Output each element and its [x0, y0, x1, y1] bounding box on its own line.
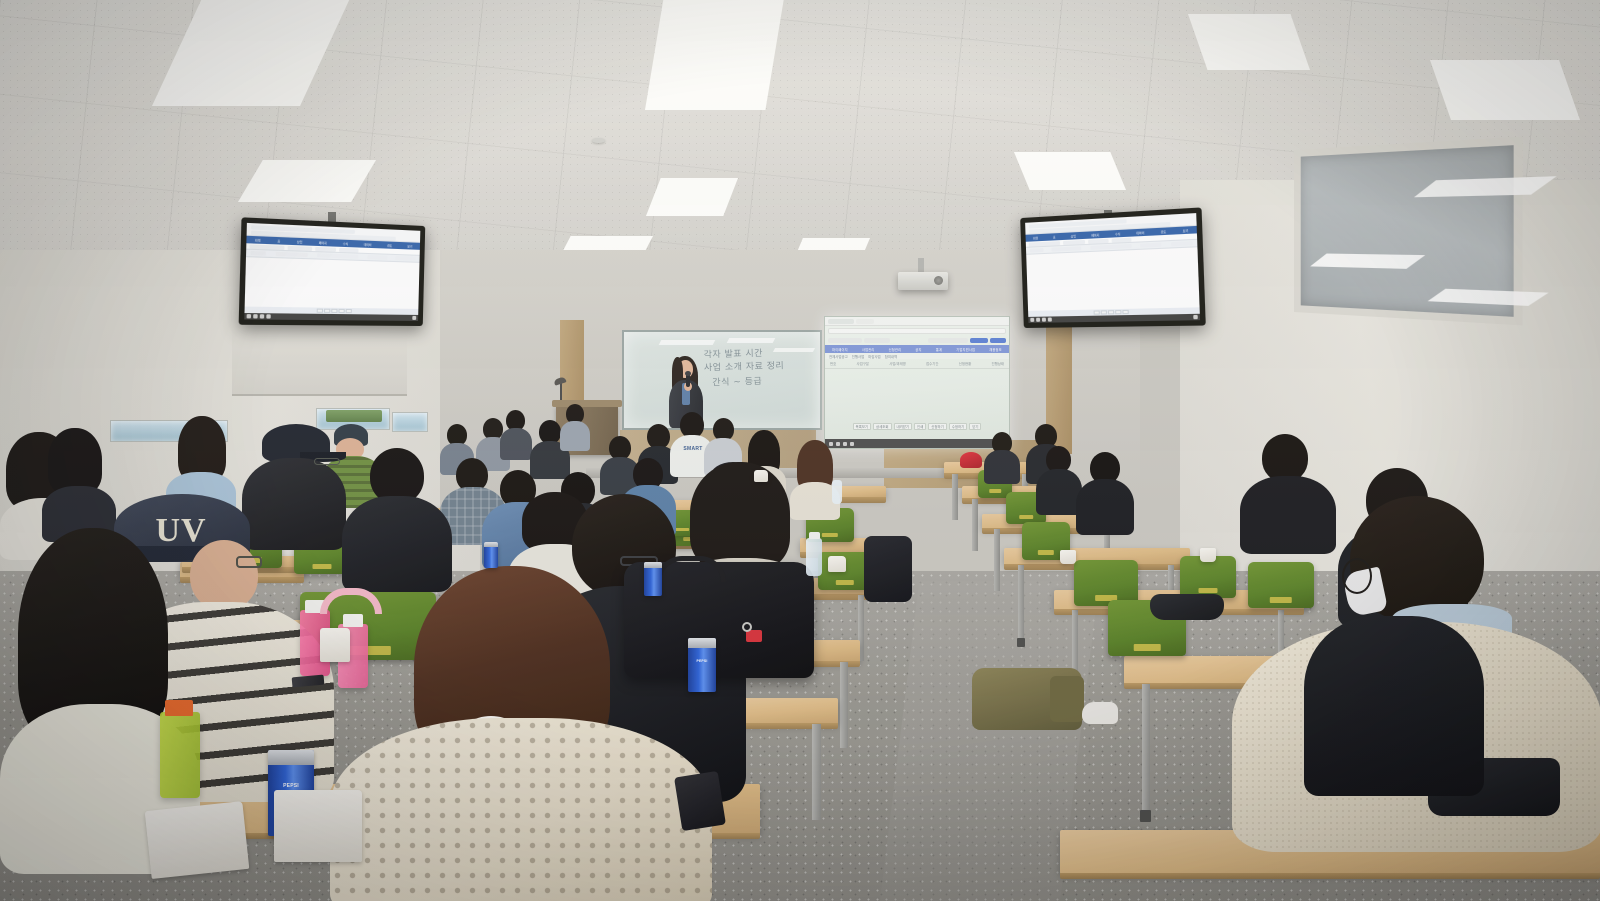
column-header: 사업구분	[857, 361, 869, 366]
student-ponytail	[330, 566, 712, 901]
ceiling-projector	[898, 272, 948, 290]
student-torso	[984, 450, 1020, 484]
paper-cup	[1200, 548, 1216, 562]
footer-button[interactable]	[1100, 310, 1107, 314]
desk-foot	[1140, 810, 1151, 822]
projection-screen: 마이페이지 사업관리 신청관리 공지 통계 기업지원사업 채용정보 전체사업공고…	[824, 316, 1010, 449]
footer-button[interactable]	[316, 309, 322, 313]
os-taskbar[interactable]	[244, 313, 418, 321]
microphone-head-icon	[685, 371, 691, 376]
bottle-cap-icon	[343, 614, 363, 627]
footer-button[interactable]	[324, 309, 331, 313]
pepsi-can	[644, 562, 662, 596]
pepsi-can	[484, 542, 498, 568]
desk-leg	[994, 529, 1000, 591]
crochet-texture	[330, 718, 712, 901]
window-reflection	[1310, 254, 1425, 269]
can-brand-label: PEPSI	[268, 783, 314, 789]
ribbon-tab[interactable]: 홈	[1053, 235, 1056, 239]
taskbar-icon[interactable]	[1036, 318, 1040, 322]
taskbar-icon[interactable]	[412, 316, 416, 320]
column-header: 진행상태	[992, 361, 1004, 366]
footer-button[interactable]	[338, 309, 345, 313]
ribbon-tab[interactable]: 파일	[1033, 236, 1038, 240]
ribbon-tab[interactable]: 데이터	[364, 242, 372, 246]
bottle-cap-icon	[809, 532, 820, 539]
student	[500, 410, 532, 454]
ribbon-tab[interactable]: 데이터	[1136, 230, 1144, 235]
strip-window	[392, 412, 428, 432]
desk-leg	[972, 499, 978, 551]
os-taskbar[interactable]	[825, 439, 1009, 448]
footer-button[interactable]	[1093, 310, 1099, 314]
paper-bag	[754, 470, 768, 482]
ribbon-tab[interactable]: 삽입	[297, 239, 303, 243]
nav-item[interactable]: 마이페이지	[832, 347, 848, 352]
ribbon-tab[interactable]: 페이지	[1091, 233, 1099, 238]
handwriting-line: 사업 소개 자료 정리	[704, 360, 814, 376]
green-drink-bottle	[160, 712, 200, 798]
subnav-item[interactable]: 마감사업	[868, 354, 880, 359]
student-hair	[48, 428, 102, 494]
toolbar-row	[828, 336, 1006, 344]
student-torso	[560, 421, 590, 451]
can-top	[688, 638, 716, 648]
wall-tv-right: 파일 홈 삽입 페이지 수식 데이터 검토 보기	[1020, 207, 1206, 328]
browser-tab	[828, 319, 854, 324]
ribbon-tab[interactable]: 홈	[277, 239, 280, 243]
nav-item[interactable]: 기업지원사업	[956, 347, 975, 352]
ribbon-tab[interactable]: 수식	[343, 241, 348, 245]
action-button[interactable]: 인쇄	[914, 423, 926, 430]
smartphone	[674, 771, 726, 831]
window-reflection	[1428, 289, 1549, 306]
handwriting-line: 간식 ~ 등급	[712, 375, 814, 391]
glasses-icon	[236, 556, 262, 568]
student-torso	[1304, 616, 1484, 796]
student	[560, 404, 590, 444]
paper-bag	[320, 628, 350, 662]
desk-foot	[1017, 638, 1025, 647]
bag-on-chair	[1150, 594, 1224, 620]
action-button[interactable]: 목록보기	[853, 423, 871, 430]
tv-left-screen: 파일 홈 삽입 페이지 수식 데이터 검토 보기	[244, 223, 420, 321]
desk-leg	[1018, 565, 1024, 641]
projector-lens-icon	[934, 276, 943, 285]
can-brand-label: PEPSI	[688, 659, 716, 663]
whiteboard-glare	[659, 340, 716, 345]
column-header: 번호	[830, 361, 836, 366]
action-button-row[interactable]: 목록보기 상세조회 내려받기 인쇄 신청하기 수정하기 닫기	[825, 421, 1009, 432]
browser-tab	[856, 319, 874, 324]
bottle-cap-icon	[165, 700, 193, 716]
ribbon-tab[interactable]: 검토	[387, 243, 392, 247]
student-torso	[500, 428, 532, 460]
nav-item[interactable]: 공지	[915, 347, 921, 352]
ribbon-tab[interactable]: 페이지	[319, 240, 327, 244]
action-button[interactable]: 닫기	[969, 423, 981, 430]
backpack-strap	[1050, 676, 1084, 722]
ribbon-tab[interactable]: 수식	[1115, 231, 1120, 235]
ribbon-tab[interactable]: 보기	[1183, 228, 1189, 233]
tv-right-screen: 파일 홈 삽입 페이지 수식 데이터 검토 보기	[1025, 213, 1200, 323]
column-header: 신청현황	[959, 361, 971, 366]
nav-item[interactable]: 사업관리	[862, 347, 875, 352]
glasses-icon	[314, 458, 340, 465]
taskbar-icon[interactable]	[843, 442, 847, 446]
smoke-detector-icon	[592, 138, 605, 143]
classroom-photograph: 각자 발표 시간 사업 소개 자료 정리 간식 ~ 등급 마이페이지 사업관리 …	[0, 0, 1600, 901]
footer-button[interactable]	[1108, 310, 1114, 314]
ceiling-light-panel	[1014, 152, 1126, 190]
taskbar-icon[interactable]	[260, 314, 264, 318]
can-top	[268, 750, 314, 765]
paper-bag	[145, 801, 250, 879]
paper-bag	[828, 556, 846, 572]
ribbon-tab[interactable]: 파일	[255, 238, 261, 242]
ribbon-tab[interactable]: 검토	[1161, 229, 1167, 234]
footer-button[interactable]	[1115, 310, 1122, 314]
window-greenery	[326, 410, 382, 422]
student-torso	[1076, 479, 1134, 535]
student-head	[1262, 434, 1308, 482]
action-button[interactable]: 상세조회	[873, 423, 891, 430]
footer-button[interactable]	[346, 309, 352, 313]
ribbon-tab[interactable]: 삽입	[1071, 234, 1076, 238]
student	[342, 448, 452, 580]
ceiling-light-panel	[1188, 14, 1310, 70]
interior-window	[1294, 137, 1523, 326]
sheet-body	[245, 257, 420, 309]
ceiling-light-panel	[645, 0, 785, 110]
table-body	[825, 369, 1009, 421]
action-button[interactable]: 내려받기	[894, 423, 912, 430]
water-bottle	[806, 538, 822, 576]
column-header: 접수기간	[926, 361, 938, 366]
app-navigation-bar[interactable]: 마이페이지 사업관리 신청관리 공지 통계 기업지원사업 채용정보	[825, 345, 1009, 353]
ceiling-light-panel	[1430, 60, 1580, 120]
sneaker	[1082, 702, 1118, 724]
column-header: 사업/과제명	[889, 361, 906, 366]
bag-ring-icon	[742, 622, 752, 632]
taskbar-icon[interactable]	[850, 442, 854, 446]
browser-chrome	[825, 317, 1009, 326]
subnav-item[interactable]: 진행사업	[852, 354, 864, 359]
desk-leg	[812, 724, 821, 820]
table-header-row: 번호 사업구분 사업/과제명 접수기간 신청현황 진행상태	[825, 359, 1009, 369]
water-bottle	[832, 480, 842, 504]
whiteboard-glare	[727, 338, 776, 343]
taskbar-icon[interactable]	[1042, 318, 1046, 322]
whiteboard-handwriting: 각자 발표 시간 사업 소개 자료 정리 간식 ~ 등급	[703, 347, 814, 391]
student	[984, 432, 1020, 480]
subnav-item[interactable]: 참여내역	[885, 354, 897, 359]
paper-bag	[274, 790, 362, 862]
can-top	[644, 562, 662, 568]
taskbar-icon[interactable]	[1048, 317, 1052, 321]
action-button[interactable]: 수정하기	[949, 423, 967, 430]
desk-leg	[952, 474, 958, 520]
red-cap-item	[960, 452, 982, 468]
taskbar-icon[interactable]	[247, 314, 252, 318]
nav-item[interactable]: 통계	[936, 347, 942, 352]
desk-leg	[1142, 684, 1150, 814]
pepsi-can: PEPSI	[688, 638, 716, 692]
ceiling-light-panel	[646, 178, 738, 216]
student	[1076, 452, 1134, 530]
nav-item[interactable]: 신청관리	[889, 347, 902, 352]
desk-leg	[840, 662, 848, 748]
footer-button[interactable]	[1123, 310, 1129, 314]
taskbar-icon[interactable]	[266, 314, 270, 318]
footer-button[interactable]	[331, 309, 337, 313]
can-top	[484, 542, 498, 547]
sheet-body	[1026, 247, 1199, 311]
ribbon-tab[interactable]: 보기	[407, 244, 412, 248]
taskbar-icon[interactable]	[253, 314, 258, 318]
student-head	[190, 540, 258, 610]
bag-on-chair	[864, 536, 912, 602]
action-button[interactable]: 신청하기	[928, 423, 946, 430]
subnav-item[interactable]: 전체사업공고	[829, 354, 848, 359]
address-bar	[828, 328, 1006, 334]
nav-item[interactable]: 채용정보	[989, 347, 1002, 352]
paper-cup	[1060, 550, 1076, 564]
taskbar-icon[interactable]	[1030, 318, 1034, 322]
student	[1304, 616, 1484, 796]
wall-tv-left: 파일 홈 삽입 페이지 수식 데이터 검토 보기	[239, 217, 426, 326]
taskbar-icon[interactable]	[1193, 315, 1198, 319]
mask-ear-loop-icon	[1342, 558, 1372, 594]
chair	[1180, 556, 1236, 598]
